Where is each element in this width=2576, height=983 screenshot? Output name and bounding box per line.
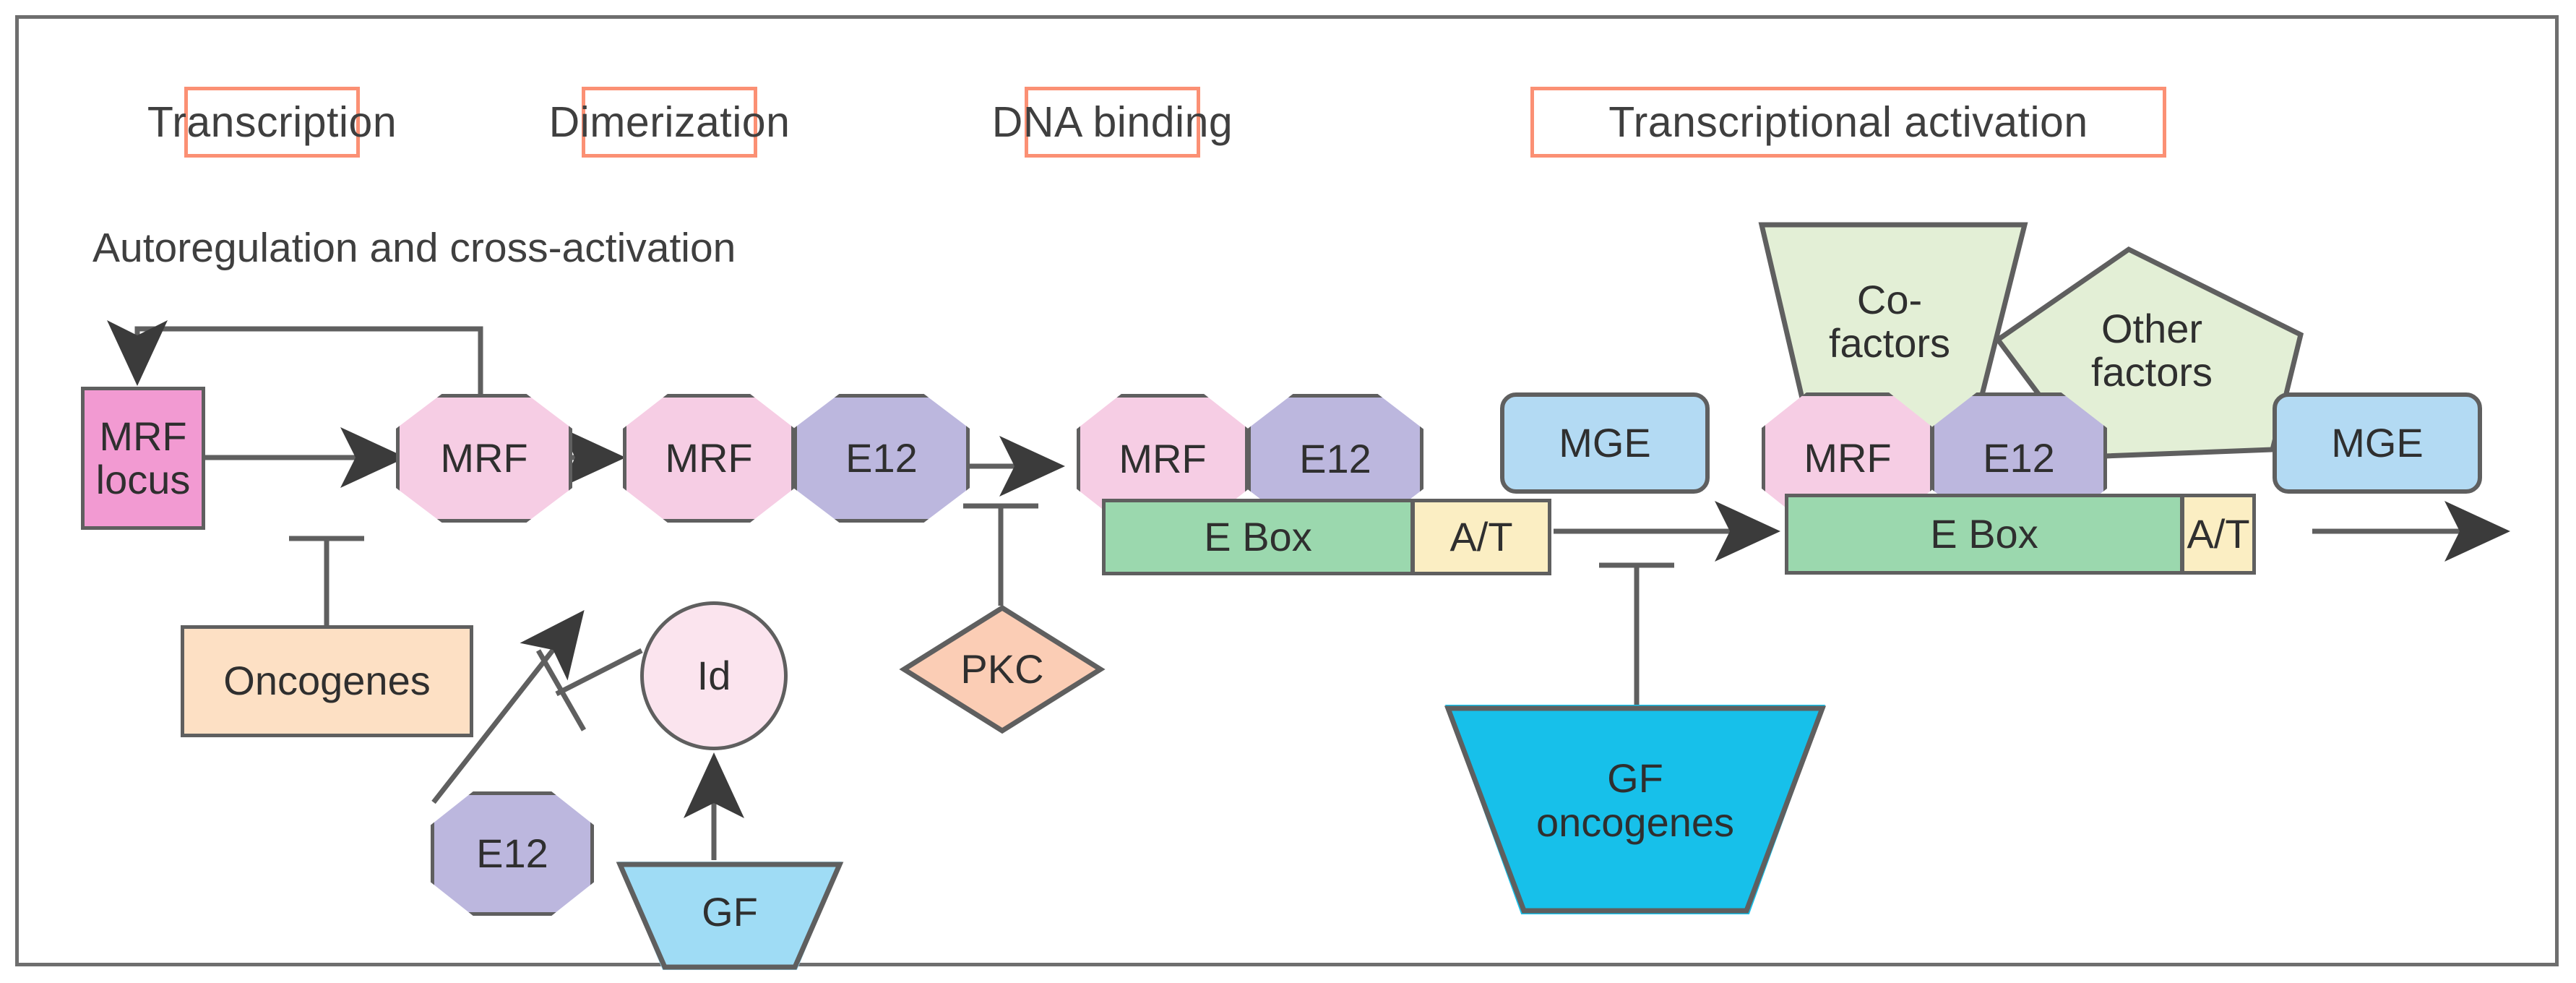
node-label: GF	[702, 890, 758, 934]
phase-label: DNA binding	[992, 98, 1233, 147]
phase-chip-transcription: Transcription	[184, 87, 360, 158]
phase-chip-dimerization: Dimerization	[582, 87, 757, 158]
node-label: E Box	[1930, 512, 2038, 556]
node-e-box-right[interactable]: E Box	[1785, 494, 2184, 575]
node-at-right[interactable]: A/T	[2181, 494, 2256, 575]
node-label: MRF locus	[96, 415, 191, 502]
node-gf-label-wrap: GF	[618, 876, 842, 948]
diagram-canvas: Transcription Dimerization DNA binding T…	[0, 0, 2576, 983]
node-id-protein[interactable]: Id	[640, 601, 788, 750]
node-label: A/T	[2187, 512, 2249, 556]
node-label: E12	[476, 832, 548, 875]
node-label: MRF	[440, 437, 527, 480]
node-e-box-left[interactable]: E Box	[1102, 499, 1414, 575]
node-label: MGE	[2331, 421, 2424, 465]
node-gf-oncogenes-label-wrap: GF oncogenes	[1445, 712, 1825, 889]
node-mrf-locus[interactable]: MRF locus	[81, 387, 205, 530]
node-label: E Box	[1204, 515, 1311, 559]
node-label: E12	[1299, 437, 1371, 481]
node-label: E12	[845, 437, 918, 480]
node-label: Other factors	[2091, 307, 2213, 395]
phase-label: Transcriptional activation	[1608, 98, 2088, 147]
phase-label: Transcription	[147, 98, 397, 147]
node-label: Co- factors	[1829, 278, 1950, 366]
node-label: PKC	[960, 648, 1043, 691]
node-mge-left[interactable]: MGE	[1500, 392, 1710, 494]
node-label: E12	[1983, 437, 2055, 480]
node-mrf-dimer[interactable]: MRF	[623, 394, 795, 523]
node-label: Oncogenes	[223, 659, 430, 703]
node-cofactors-label-wrap: Co- factors	[1749, 239, 2030, 405]
phase-chip-dna-binding: DNA binding	[1025, 87, 1200, 158]
node-e12-dimer[interactable]: E12	[793, 394, 970, 523]
node-label: MGE	[1559, 421, 1651, 465]
node-at-left[interactable]: A/T	[1411, 499, 1551, 575]
phase-chip-transcriptional-activation: Transcriptional activation	[1530, 87, 2166, 158]
phase-label: Dimerization	[549, 98, 791, 147]
node-mge-right[interactable]: MGE	[2273, 392, 2482, 494]
node-e12-free[interactable]: E12	[431, 791, 594, 916]
node-label: MRF	[665, 437, 752, 480]
node-pkc-label-wrap: PKC	[902, 606, 1103, 733]
node-label: A/T	[1449, 515, 1512, 559]
node-oncogenes[interactable]: Oncogenes	[181, 625, 473, 737]
node-label: MRF	[1119, 437, 1206, 481]
node-label: GF oncogenes	[1536, 757, 1734, 844]
node-label: Id	[697, 654, 731, 697]
node-label: MRF	[1804, 437, 1891, 480]
autoregulation-caption: Autoregulation and cross-activation	[92, 224, 736, 272]
node-mrf-monomer[interactable]: MRF	[396, 394, 572, 523]
